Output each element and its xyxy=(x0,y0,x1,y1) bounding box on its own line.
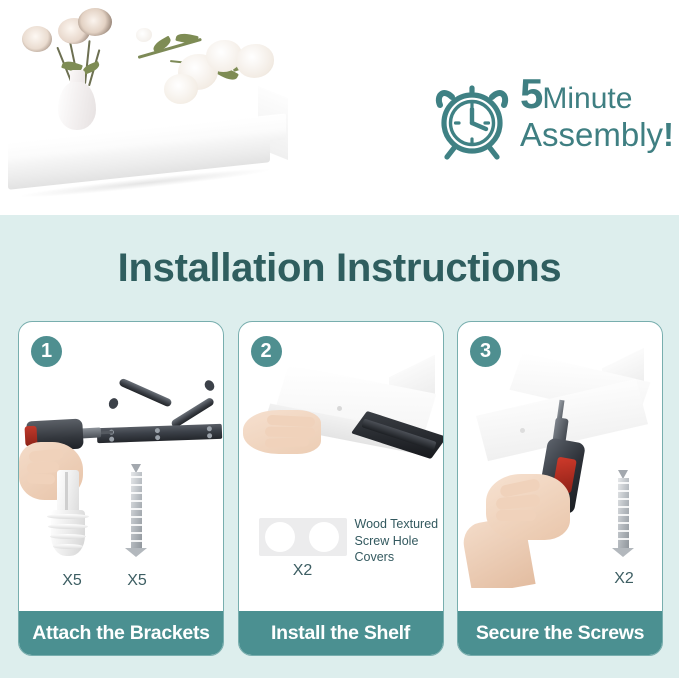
steps-container: 1 xyxy=(18,321,663,656)
assembly-word: Assembly xyxy=(520,116,663,153)
assembly-time-badge: 5Minute Assembly! xyxy=(430,74,670,166)
part-qty-label: X5 xyxy=(111,572,163,590)
anchor-slot xyxy=(65,472,68,512)
alarm-clock-icon xyxy=(430,78,514,162)
drywall-anchor-illustration xyxy=(41,470,103,570)
cover-disc xyxy=(309,522,339,552)
screw-shaft xyxy=(618,478,629,550)
assembly-time-text: 5Minute Assembly! xyxy=(520,72,670,152)
step-card-1: 1 xyxy=(18,321,224,656)
finger xyxy=(264,437,308,448)
part-qty-label: X2 xyxy=(259,562,347,580)
bracket-screw-hole xyxy=(207,426,212,431)
orchid-flower xyxy=(236,44,274,78)
orchid-bud xyxy=(136,28,152,42)
bracket-screw-hole xyxy=(207,433,212,438)
anchor-thread xyxy=(53,544,83,549)
step-label-3: Secure the Screws xyxy=(458,611,662,655)
rod-cap xyxy=(107,397,120,411)
screw-head xyxy=(612,548,634,557)
anchor-thread xyxy=(48,524,88,529)
covers-description-line2: Screw Hole xyxy=(355,533,441,550)
installation-instructions-section: Installation Instructions 1 xyxy=(0,215,679,678)
step-number-badge: 3 xyxy=(470,336,501,367)
shelf-screw-hole xyxy=(337,406,342,411)
step-number-badge: 2 xyxy=(251,336,282,367)
bracket-plate xyxy=(97,424,222,443)
hand-holding-drill xyxy=(486,474,570,540)
step-number-badge: 1 xyxy=(31,336,62,367)
finger xyxy=(264,427,314,438)
bracket-screw-hole xyxy=(155,435,160,440)
bracket-screw-hole xyxy=(155,428,160,433)
dried-bloom xyxy=(78,8,112,36)
shelf-screw-hole xyxy=(520,428,525,433)
finger xyxy=(496,510,536,521)
step-label-2: Install the Shelf xyxy=(239,611,443,655)
dried-bloom xyxy=(22,26,52,52)
orchid-flower xyxy=(164,74,198,104)
step-card-3: 3 xyxy=(457,321,663,656)
hand-pushing-shelf xyxy=(243,410,321,454)
anchor-thread xyxy=(47,514,89,519)
page-title: Installation Instructions xyxy=(0,246,679,291)
covers-description-line3: Covers xyxy=(355,549,441,566)
bracket-rod xyxy=(118,378,172,408)
covers-description: Wood Textured Screw Hole Covers xyxy=(355,516,441,566)
finger xyxy=(266,415,314,427)
finger xyxy=(29,448,64,462)
floating-shelf-photo xyxy=(0,0,300,200)
step-card-2: 2 xyxy=(238,321,444,656)
anchor-head xyxy=(57,470,79,514)
wood-screw-illustration xyxy=(111,464,163,570)
step-label-1: Attach the Brackets xyxy=(19,611,223,655)
screw-shaft xyxy=(131,472,142,550)
cover-disc xyxy=(265,522,295,552)
rod-cap xyxy=(203,378,216,392)
anchor-thread xyxy=(50,534,86,539)
assembly-minutes-number: 5 xyxy=(520,70,542,117)
assembly-minutes-unit: Minute xyxy=(542,82,632,115)
screw-hole-covers-sheet xyxy=(259,518,347,556)
screw-head xyxy=(125,548,147,557)
bracket-screw-hole xyxy=(109,437,114,442)
part-qty-label: X5 xyxy=(41,572,103,590)
assembly-exclamation: ! xyxy=(663,116,674,153)
covers-description-line1: Wood Textured xyxy=(355,516,441,533)
hero-product-photo: 5Minute Assembly! xyxy=(0,0,679,215)
wood-screw-illustration xyxy=(598,470,650,570)
part-qty-label: X2 xyxy=(598,570,650,588)
ceramic-vase xyxy=(58,82,96,130)
